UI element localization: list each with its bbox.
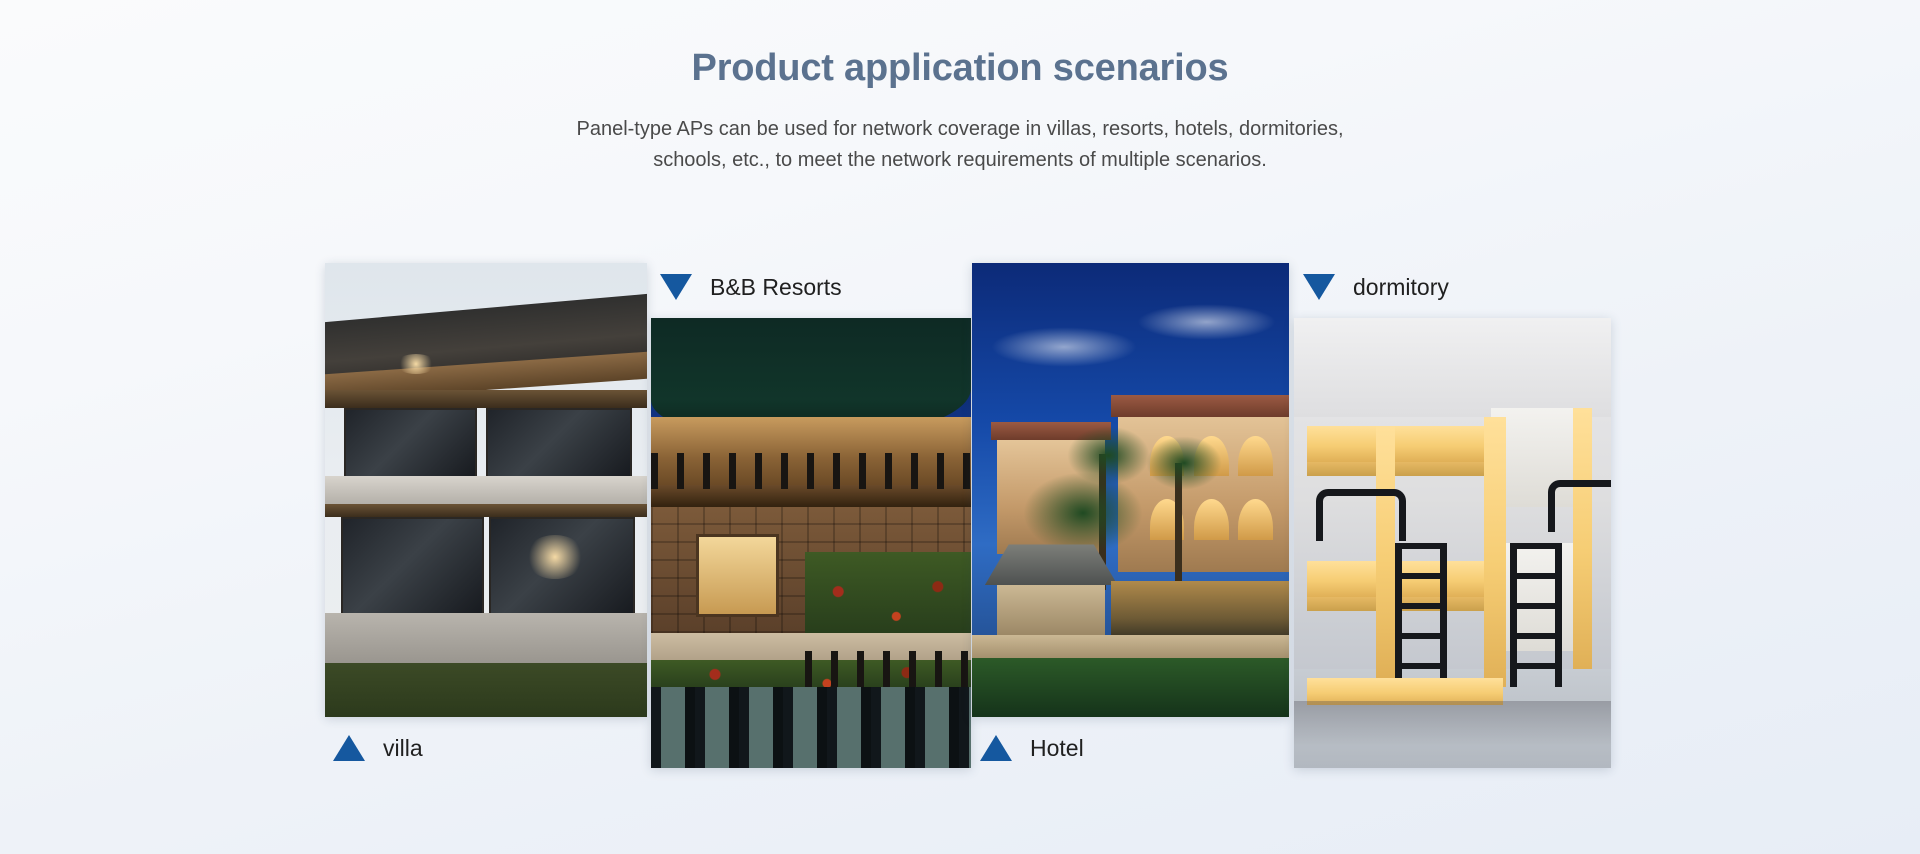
villa-balcony-slab	[325, 476, 647, 503]
caption-label-bnb-resorts: B&B Resorts	[710, 276, 842, 299]
caption-dormitory: dormitory	[1303, 274, 1449, 300]
villa-ceiling-light	[396, 354, 436, 374]
dormitory-ceiling	[1294, 318, 1611, 417]
dormitory-guard-rail-right	[1548, 480, 1611, 532]
hotel-photo	[972, 263, 1289, 717]
hotel-roof-right	[1111, 395, 1289, 418]
villa-photo	[325, 263, 647, 717]
caption-hotel: Hotel	[980, 735, 1084, 761]
hotel-foreground-foliage	[972, 658, 1289, 717]
villa-upper-glass-left	[344, 408, 477, 480]
villa-upper-band	[325, 390, 647, 408]
bnb-resorts-photo	[651, 318, 971, 768]
villa-upper-glass-right	[486, 408, 632, 480]
hotel-cloud-right	[1137, 304, 1276, 340]
dormitory-upper-shelf-edge	[1307, 462, 1504, 476]
dormitory-left-post	[1376, 426, 1395, 678]
hotel-cloud-left	[991, 327, 1137, 368]
dormitory-right-post	[1484, 417, 1506, 687]
dormitory-upper-shelf	[1307, 426, 1504, 462]
product-application-scenarios-page: Product application scenarios Panel-type…	[0, 0, 1920, 854]
villa-lower-glass-left	[341, 517, 483, 616]
hotel-building-right	[1118, 408, 1289, 571]
hotel-tree-center	[1023, 472, 1143, 554]
triangle-up-icon	[333, 735, 365, 761]
bnb-window	[696, 534, 779, 617]
caption-bnb-resorts: B&B Resorts	[660, 274, 842, 300]
caption-label-villa: villa	[383, 737, 423, 760]
dormitory-photo	[1294, 318, 1611, 768]
hotel-palm-crown-b	[1146, 436, 1222, 490]
dormitory-ladder-left	[1395, 543, 1447, 687]
scenario-card-bnb-resorts[interactable]	[651, 318, 971, 768]
dormitory-ladder-right	[1510, 543, 1562, 687]
scenario-card-villa[interactable]	[325, 263, 647, 717]
scenario-card-dormitory[interactable]	[1294, 318, 1611, 768]
caption-label-dormitory: dormitory	[1353, 276, 1449, 299]
triangle-down-icon	[1303, 274, 1335, 300]
bnb-balcony-railing	[651, 453, 971, 489]
caption-label-hotel: Hotel	[1030, 737, 1084, 760]
dormitory-guard-rail-upper	[1316, 489, 1406, 541]
dormitory-far-post	[1573, 408, 1592, 669]
bnb-glass-doors	[651, 687, 971, 768]
triangle-down-icon	[660, 274, 692, 300]
dormitory-floor-shadow	[1294, 701, 1611, 746]
villa-lower-band	[325, 504, 647, 518]
villa-patio	[325, 613, 647, 663]
triangle-up-icon	[980, 735, 1012, 761]
caption-villa: villa	[333, 735, 423, 761]
hotel-pavilion-base	[997, 585, 1105, 635]
villa-lawn	[325, 663, 647, 717]
villa-interior-lamp	[525, 535, 585, 579]
scenario-card-hotel[interactable]	[972, 263, 1289, 717]
scenario-gallery: villa B&B Resorts	[0, 0, 1920, 854]
